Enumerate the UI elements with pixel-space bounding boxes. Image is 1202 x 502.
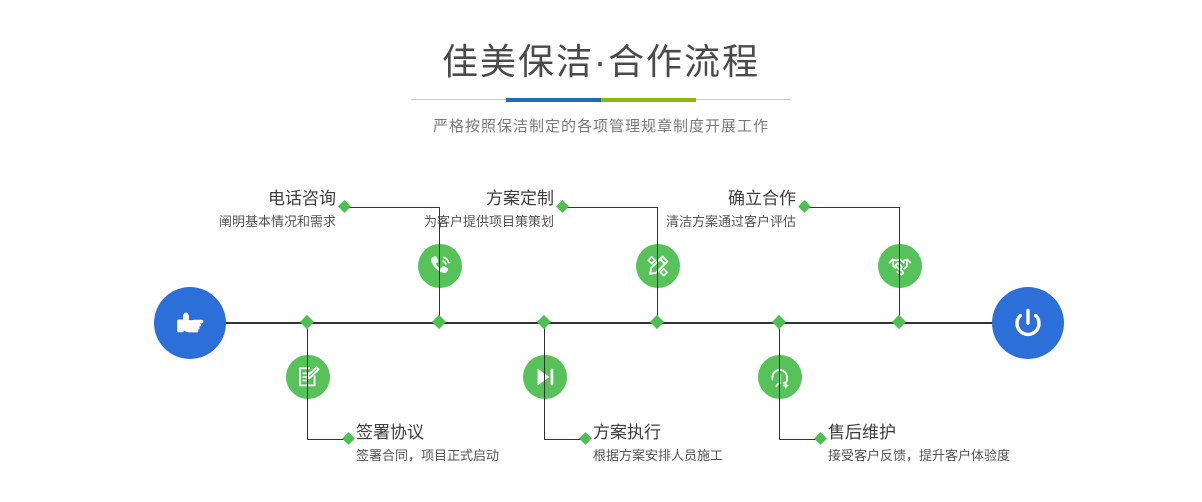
axis-marker-1 [432,315,446,329]
step-title-5: 售后维护 [828,422,1158,444]
step-icon-3 [636,244,680,288]
handshake-icon [887,253,913,279]
step-icon-2 [286,355,330,399]
divider-accent-blue [506,98,601,102]
step-label-marker-2 [342,432,355,445]
play-execute-icon [532,364,558,390]
timeline-start-node [154,287,226,359]
flow-diagram-page: 佳美保洁·合作流程 严格按照保洁制定的各项管理规章制度开展工作 [0,0,1202,502]
document-edit-icon [295,364,321,390]
process-timeline: 电话咨询 阐明基本情况和需求 [0,150,1202,502]
page-title: 佳美保洁·合作流程 [0,0,1202,83]
step-icon-1 [418,244,462,288]
axis-marker-5 [772,315,786,329]
step-stem-5 [779,323,780,439]
step-icon-5 [758,355,802,399]
step-label-marker-6 [798,200,811,213]
step-stem-4 [544,323,545,439]
step-icon-4 [523,355,567,399]
phone-call-icon [427,253,453,279]
page-subtitle: 严格按照保洁制定的各项管理规章制度开展工作 [0,115,1202,136]
step-icon-6 [878,244,922,288]
step-arm-6 [804,207,900,208]
axis-marker-2 [300,315,314,329]
pointing-hand-icon [170,303,210,343]
pencil-ruler-icon [645,253,671,279]
title-divider [411,95,791,105]
step-desc-6: 清洁方案通过客户评估 [460,212,796,232]
step-label-5: 售后维护 接受客户反馈，提升客户体验度 [828,422,1158,466]
timeline-end-node [992,287,1064,359]
step-label-6: 确立合作 清洁方案通过客户评估 [460,188,796,232]
step-stem-2 [307,323,308,439]
step-title-6: 确立合作 [460,188,796,210]
axis-marker-6 [892,315,906,329]
timeline-axis [155,322,1047,324]
step-stem-6 [899,207,900,323]
axis-marker-4 [537,315,551,329]
step-desc-5: 接受客户反馈，提升客户体验度 [828,446,1158,466]
headset-support-icon [767,364,793,390]
page-header: 佳美保洁·合作流程 严格按照保洁制定的各项管理规章制度开展工作 [0,0,1202,136]
axis-marker-3 [650,315,664,329]
divider-accent-green [601,98,696,102]
power-icon [1008,303,1048,343]
